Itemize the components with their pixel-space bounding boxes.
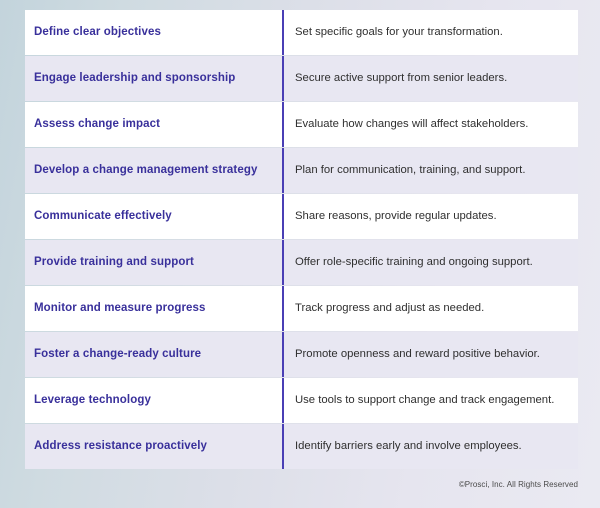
table-cell-term: Develop a change management strategy: [25, 148, 282, 193]
table-cell-description: Track progress and adjust as needed.: [284, 286, 578, 331]
description-label: Use tools to support change and track en…: [295, 393, 554, 407]
table-cell-description: Set specific goals for your transformati…: [284, 10, 578, 55]
description-label: Promote openness and reward positive beh…: [295, 347, 540, 361]
table-row: Define clear objectives Set specific goa…: [25, 10, 578, 55]
copyright-footer: ©Prosci, Inc. All Rights Reserved: [459, 480, 578, 489]
table-row: Engage leadership and sponsorship Secure…: [25, 56, 578, 101]
table-row: Communicate effectively Share reasons, p…: [25, 194, 578, 239]
best-practices-table: Define clear objectives Set specific goa…: [25, 10, 578, 470]
table-cell-term: Provide training and support: [25, 240, 282, 285]
table-cell-description: Share reasons, provide regular updates.: [284, 194, 578, 239]
description-label: Set specific goals for your transformati…: [295, 25, 503, 39]
table-cell-term: Leverage technology: [25, 378, 282, 423]
table-cell-description: Use tools to support change and track en…: [284, 378, 578, 423]
table-cell-description: Offer role-specific training and ongoing…: [284, 240, 578, 285]
table-row: Monitor and measure progress Track progr…: [25, 286, 578, 331]
term-label: Monitor and measure progress: [34, 302, 206, 316]
term-label: Engage leadership and sponsorship: [34, 72, 235, 86]
description-label: Offer role-specific training and ongoing…: [295, 255, 533, 269]
table-cell-term: Communicate effectively: [25, 194, 282, 239]
table-cell-term: Engage leadership and sponsorship: [25, 56, 282, 101]
term-label: Address resistance proactively: [34, 440, 207, 454]
table-cell-term: Monitor and measure progress: [25, 286, 282, 331]
table-row: Foster a change-ready culture Promote op…: [25, 332, 578, 377]
term-label: Foster a change-ready culture: [34, 348, 201, 362]
table-cell-description: Evaluate how changes will affect stakeho…: [284, 102, 578, 147]
description-label: Identify barriers early and involve empl…: [295, 439, 522, 453]
term-label: Provide training and support: [34, 256, 194, 270]
term-label: Leverage technology: [34, 394, 151, 408]
term-label: Develop a change management strategy: [34, 164, 257, 178]
table-cell-term: Assess change impact: [25, 102, 282, 147]
table-cell-term: Define clear objectives: [25, 10, 282, 55]
infographic-root: Define clear objectives Set specific goa…: [0, 0, 600, 508]
description-label: Track progress and adjust as needed.: [295, 301, 484, 315]
description-label: Plan for communication, training, and su…: [295, 163, 525, 177]
table-cell-term: Foster a change-ready culture: [25, 332, 282, 377]
table-row: Provide training and support Offer role-…: [25, 240, 578, 285]
table-row: Address resistance proactively Identify …: [25, 424, 578, 469]
table-cell-term: Address resistance proactively: [25, 424, 282, 469]
table-row: Assess change impact Evaluate how change…: [25, 102, 578, 147]
description-label: Share reasons, provide regular updates.: [295, 209, 497, 223]
description-label: Evaluate how changes will affect stakeho…: [295, 117, 528, 131]
term-label: Define clear objectives: [34, 26, 161, 40]
term-label: Assess change impact: [34, 118, 160, 132]
description-label: Secure active support from senior leader…: [295, 71, 507, 85]
table-cell-description: Plan for communication, training, and su…: [284, 148, 578, 193]
table-row: Leverage technology Use tools to support…: [25, 378, 578, 423]
table-cell-description: Promote openness and reward positive beh…: [284, 332, 578, 377]
table-cell-description: Secure active support from senior leader…: [284, 56, 578, 101]
table-row: Develop a change management strategy Pla…: [25, 148, 578, 193]
term-label: Communicate effectively: [34, 210, 172, 224]
table-cell-description: Identify barriers early and involve empl…: [284, 424, 578, 469]
